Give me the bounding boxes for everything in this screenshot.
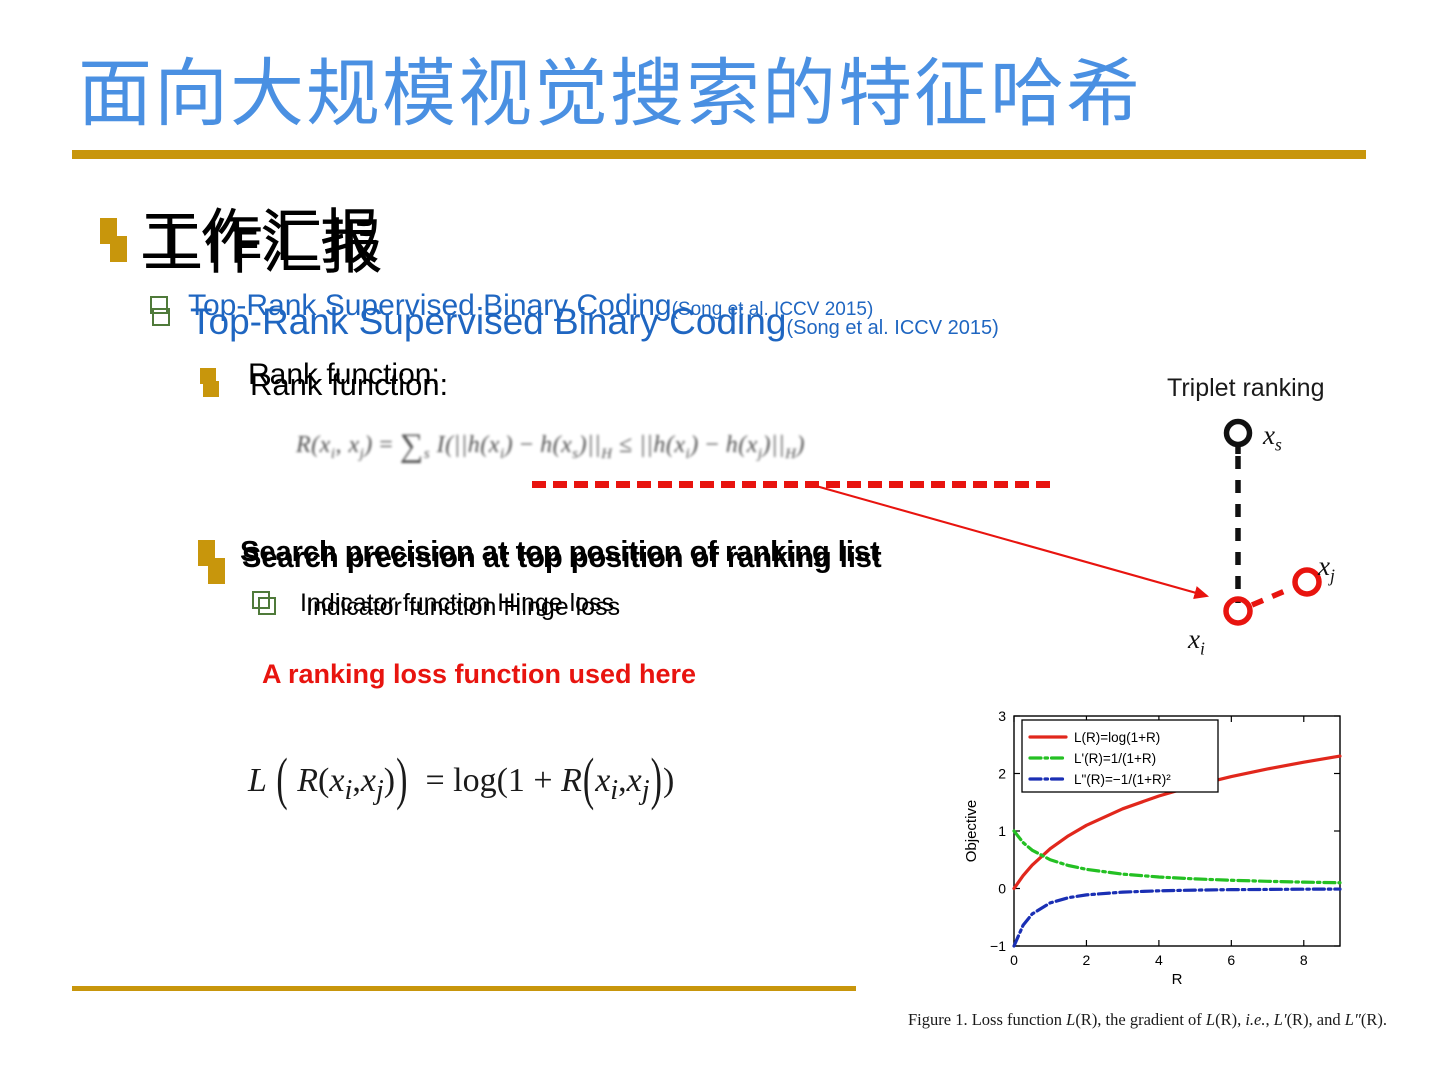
node-xs	[1227, 422, 1250, 445]
caption-seg-2: (R), the gradient of	[1075, 1010, 1206, 1029]
svg-text:4: 4	[1155, 952, 1163, 968]
bullet-level1-icon	[100, 218, 126, 264]
svg-text:0: 0	[1010, 952, 1018, 968]
svg-text:8: 8	[1300, 952, 1308, 968]
caption-seg-4: ,	[1266, 1010, 1274, 1029]
caption-L2: L	[1206, 1010, 1215, 1029]
caption-ie: i.e.	[1245, 1010, 1265, 1029]
svg-text:3: 3	[998, 708, 1006, 724]
node-label-xj: xj	[1318, 551, 1335, 586]
outline-level2: Top-Rank Supervised Binary Coding(Song e…	[190, 300, 999, 350]
triplet-ranking-diagram	[1180, 408, 1420, 658]
caption-Ldprime: L″	[1345, 1010, 1361, 1029]
rank-function-formula: R(xi, xj) = ∑s I(||h(xi) − h(xs)||H ≤ ||…	[296, 428, 805, 465]
node-label-xi: xi	[1188, 624, 1205, 659]
indicator-hinge-label: Indicator function Hinge loss	[306, 592, 620, 622]
ranking-loss-note: A ranking loss function used here	[262, 657, 696, 691]
outline-level2-text: Top-Rank Supervised Binary Coding	[190, 301, 786, 342]
svg-text:6: 6	[1227, 952, 1235, 968]
bullet-level2-icon	[152, 308, 170, 326]
footer-divider	[72, 986, 856, 991]
figure-caption: Figure 1. Loss function L(R), the gradie…	[908, 1008, 1428, 1031]
svg-text:2: 2	[1083, 952, 1091, 968]
presentation-slide: 面向大规模视觉搜索的特征哈希 工作汇报 工作汇报 Top-Rank Superv…	[0, 0, 1440, 1080]
caption-seg-1: Figure 1. Loss function	[908, 1010, 1066, 1029]
search-precision-label: Search precision at top position of rank…	[242, 540, 882, 576]
svg-text:L"(R)=−1/(1+R)²: L"(R)=−1/(1+R)²	[1074, 772, 1171, 787]
caption-seg-6: (R).	[1361, 1010, 1387, 1029]
edge-xi-xj	[1252, 588, 1292, 605]
svg-text:−1: −1	[990, 938, 1006, 954]
bullet-level3-precision-icon	[198, 540, 218, 574]
bullet-level4-icon	[252, 591, 270, 609]
loss-equation: L ( R(xi,xj)) = log(1 + R(xi,xj))	[248, 762, 674, 807]
title-divider	[72, 150, 1366, 159]
svg-text:L(R)=log(1+R): L(R)=log(1+R)	[1074, 730, 1160, 745]
triplet-ranking-title: Triplet ranking	[1167, 374, 1324, 403]
red-dashed-separator	[532, 481, 1050, 488]
caption-Lprime: L′	[1274, 1010, 1287, 1029]
outline-level1: 工作汇报	[143, 213, 383, 283]
citation: (Song et al. ICCV 2015)	[786, 317, 998, 339]
bullet-level3-rank-icon	[203, 381, 219, 397]
loss-chart-svg: −1012302468RObjectiveL(R)=log(1+R)L'(R)=…	[962, 700, 1354, 988]
caption-L: L	[1066, 1010, 1075, 1029]
svg-text:0: 0	[998, 881, 1006, 897]
svg-text:R: R	[1172, 971, 1183, 988]
caption-seg-3: (R),	[1215, 1010, 1245, 1029]
caption-seg-5: (R), and	[1287, 1010, 1345, 1029]
svg-text:L'(R)=1/(1+R): L'(R)=1/(1+R)	[1074, 751, 1156, 766]
svg-text:1: 1	[998, 823, 1006, 839]
rank-function-label: Rank function:	[250, 366, 448, 404]
svg-text:2: 2	[998, 766, 1006, 782]
node-label-xs: xs	[1263, 420, 1282, 455]
loss-function-figure: −1012302468RObjectiveL(R)=log(1+R)L'(R)=…	[962, 700, 1354, 988]
page-title: 面向大规模视觉搜索的特征哈希	[78, 46, 1378, 142]
node-xj	[1295, 570, 1319, 594]
svg-text:Objective: Objective	[963, 800, 980, 863]
